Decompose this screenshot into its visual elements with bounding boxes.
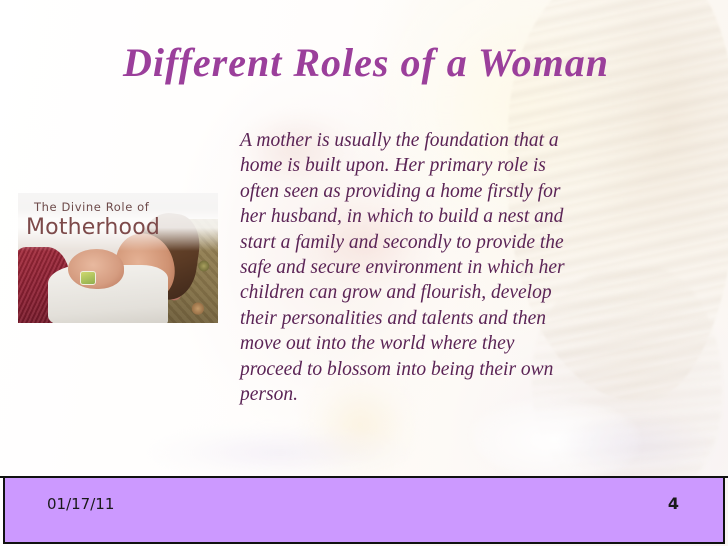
photo-scene: The Divine Role of Motherhood [18, 193, 218, 323]
slide-body-text: A mother is usually the foundation that … [240, 128, 580, 407]
background-white-patch [470, 400, 640, 480]
motherhood-photo: The Divine Role of Motherhood [18, 193, 218, 323]
footer-page-number: 4 [668, 494, 679, 513]
photo-baby-pacifier [80, 271, 96, 285]
background-lavender-wisp-right [560, 415, 710, 475]
footer-band: 01/17/11 4 [3, 478, 725, 544]
photo-caption-large: Motherhood [26, 215, 160, 240]
background-lavender-wisp-left [150, 425, 410, 480]
slide: Different Roles of a Woman The Divine Ro… [0, 0, 728, 546]
footer-date: 01/17/11 [47, 495, 114, 513]
photo-caption-small: The Divine Role of [34, 200, 149, 214]
photo-baby-head [68, 249, 124, 289]
slide-title: Different Roles of a Woman [60, 42, 672, 84]
